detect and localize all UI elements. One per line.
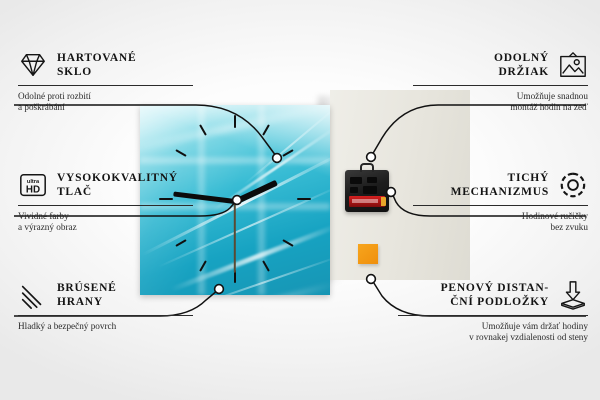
ground-edges-icon xyxy=(18,280,48,310)
feature-block-high-quality-print: ultra HD VYSOKOKVALITNÝ TLAČ Vividné far… xyxy=(18,170,193,234)
feature-description: Vividné farby a výrazný obraz xyxy=(18,211,193,234)
clock-mark xyxy=(234,115,236,128)
svg-text:HD: HD xyxy=(26,185,40,196)
feature-title: HARTOVANÉ SKLO xyxy=(57,51,136,79)
divider xyxy=(413,85,588,86)
feature-title: ODOLNÝ DRŽIAK xyxy=(494,51,549,79)
feature-block-ground-edges: BRÚSENÉ HRANY Hladký a bezpečný povrch xyxy=(18,280,193,332)
feature-description: Umožňuje snadnou montáž hodin na zeď xyxy=(413,91,588,114)
clock-mark xyxy=(297,198,311,200)
feature-block-tempered-glass: HARTOVANÉ SKLO Odolné proti rozbití a po… xyxy=(18,50,193,114)
foam-spacer-pad xyxy=(358,244,378,264)
feature-description: Hodinové ručičky bez zvuku xyxy=(413,211,588,234)
feature-title: BRÚSENÉ HRANY xyxy=(57,281,117,309)
clock-second-hand xyxy=(234,201,236,273)
infographic-stage: HARTOVANÉ SKLO Odolné proti rozbití a po… xyxy=(0,0,600,400)
feature-title: VYSOKOKVALITNÝ TLAČ xyxy=(57,171,178,199)
divider xyxy=(18,315,193,316)
divider xyxy=(413,205,588,206)
mechanism-hook xyxy=(360,163,374,172)
clock-center-cap xyxy=(233,198,238,203)
gear-icon xyxy=(558,170,588,200)
picture-hanger-icon xyxy=(558,50,588,80)
feature-title: TICHÝ MECHANIZMUS xyxy=(451,171,549,199)
feature-block-silent-mechanism: TICHÝ MECHANIZMUS Hodinové ručičky bez z… xyxy=(413,170,588,234)
feature-block-durable-holder: ODOLNÝ DRŽIAK Umožňuje snadnou montáž ho… xyxy=(413,50,588,114)
divider xyxy=(18,85,193,86)
ultra-hd-icon: ultra HD xyxy=(18,170,48,200)
divider xyxy=(398,315,588,316)
feature-description: Hladký a bezpečný povrch xyxy=(18,321,193,332)
clock-mechanism xyxy=(345,170,389,212)
divider xyxy=(18,205,193,206)
diamond-icon xyxy=(18,50,48,80)
feature-title: PENOVÝ DISTAN- ČNÍ PODLOŽKY xyxy=(441,281,549,309)
mechanism-battery xyxy=(349,196,385,207)
feature-description: Odolné proti rozbití a poškrábání xyxy=(18,91,193,114)
feature-block-foam-spacers: PENOVÝ DISTAN- ČNÍ PODLOŽKY Umožňuje vám… xyxy=(398,280,588,344)
feature-description: Umožňuje vám držať hodiny v rovnakej vzd… xyxy=(398,321,588,344)
foam-spacer-icon xyxy=(558,280,588,310)
